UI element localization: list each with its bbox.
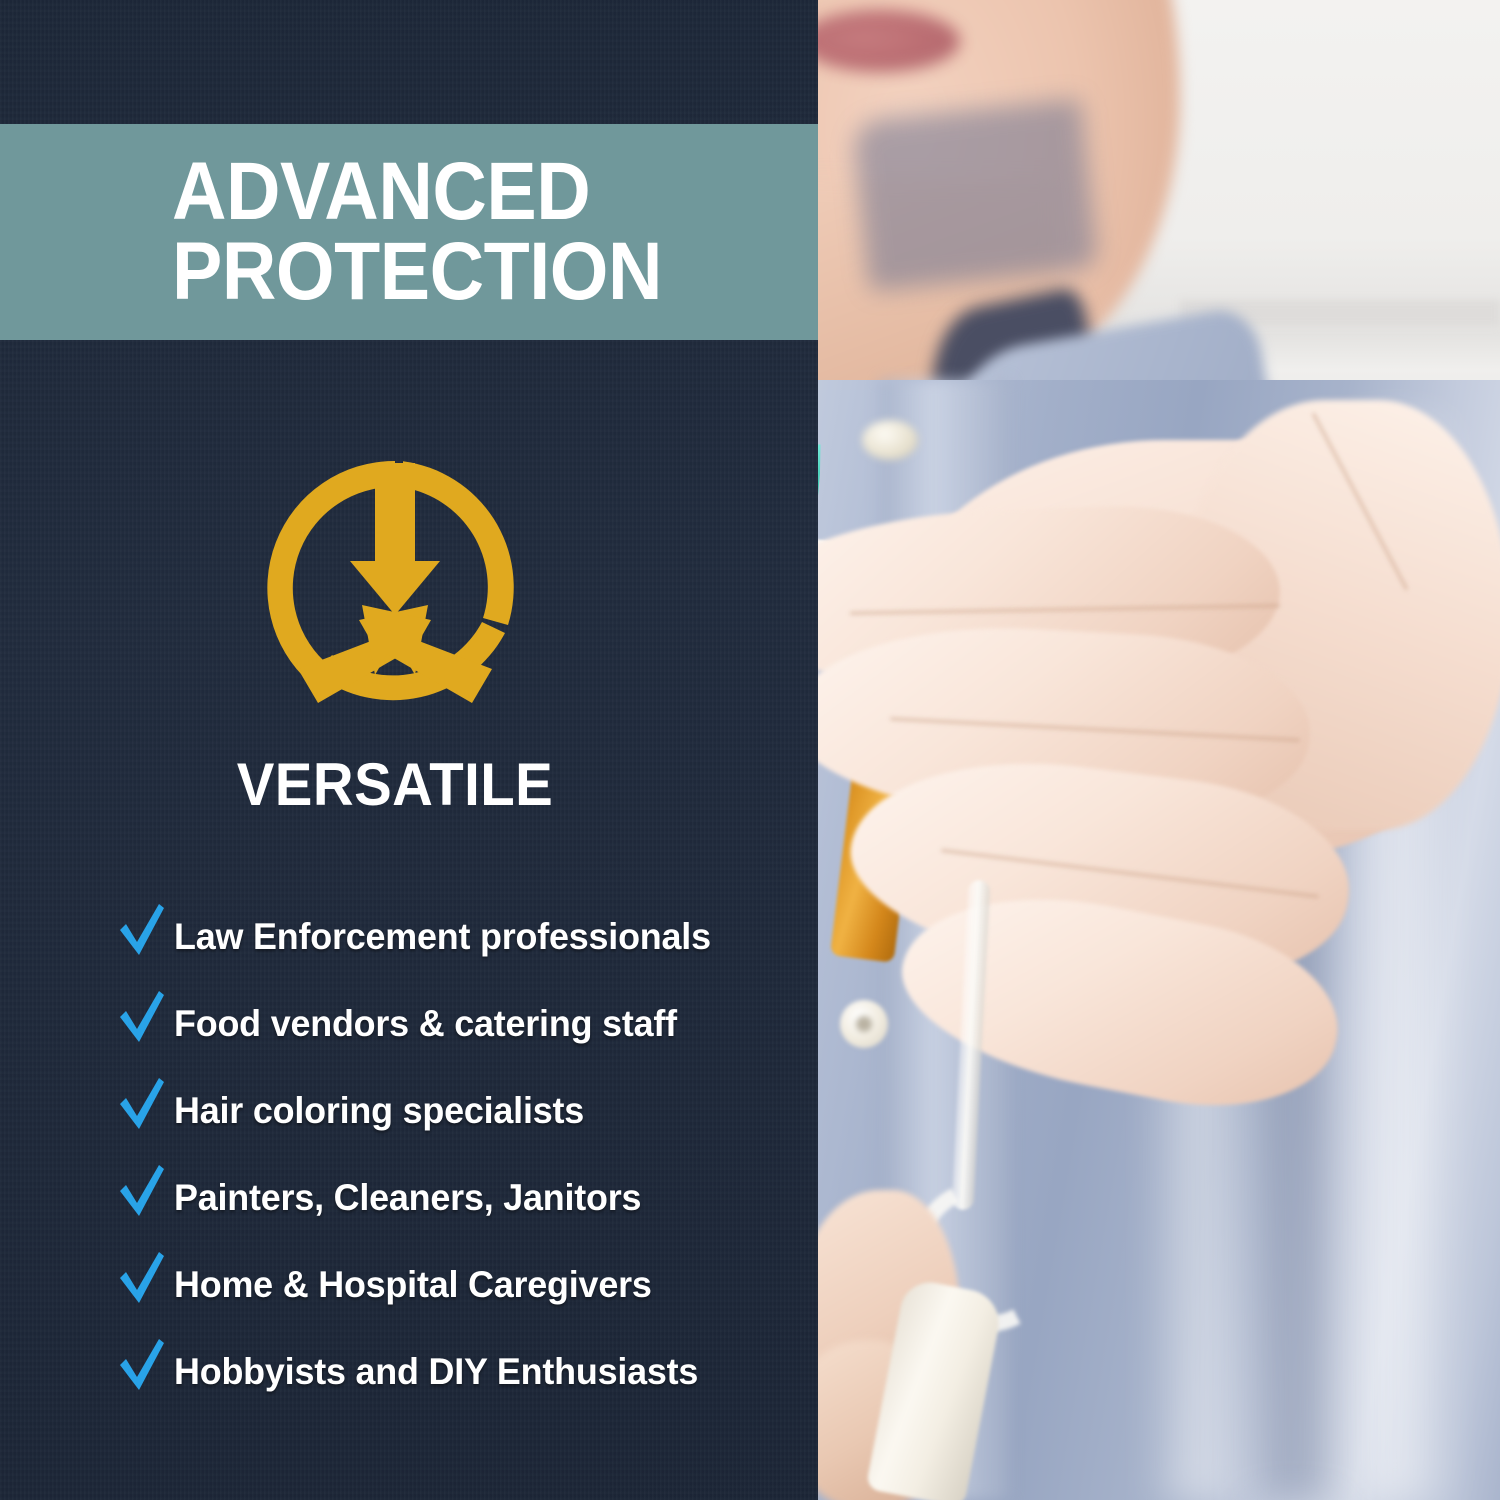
feature-title: VERSATILE xyxy=(24,750,767,819)
list-item: Painters, Cleaners, Janitors xyxy=(118,1154,778,1241)
circular-arrows-versatility-icon xyxy=(262,455,528,721)
list-item-label: Food vendors & catering staff xyxy=(174,1003,677,1045)
list-item: Home & Hospital Caregivers xyxy=(118,1241,778,1328)
headline-banner: ADVANCED PROTECTION xyxy=(0,124,818,340)
blue-checkmark-icon xyxy=(118,902,166,960)
blue-checkmark-icon xyxy=(118,989,166,1047)
shirt-pocket xyxy=(852,98,1099,291)
lips xyxy=(800,10,960,72)
list-item-label: Law Enforcement professionals xyxy=(174,916,711,958)
product-infographic: ADVANCED PROTECTION VERSATILE xyxy=(0,0,1500,1500)
list-item-label: Hobbyists and DIY Enthusiasts xyxy=(174,1351,698,1393)
blue-checkmark-icon xyxy=(118,1076,166,1134)
blue-checkmark-icon xyxy=(118,1337,166,1395)
blue-checkmark-icon xyxy=(118,1163,166,1221)
blue-checkmark-icon xyxy=(118,1250,166,1308)
headline-line-2: PROTECTION xyxy=(172,232,766,312)
gloved-hand xyxy=(700,380,1500,1080)
benefits-list: Law Enforcement professionals Food vendo… xyxy=(118,893,778,1415)
list-item: Food vendors & catering staff xyxy=(118,980,778,1067)
list-item-label: Painters, Cleaners, Janitors xyxy=(174,1177,641,1219)
list-item-label: Home & Hospital Caregivers xyxy=(174,1264,652,1306)
list-item: Hobbyists and DIY Enthusiasts xyxy=(118,1328,778,1415)
list-item: Hair coloring specialists xyxy=(118,1067,778,1154)
list-item-label: Hair coloring specialists xyxy=(174,1090,584,1132)
list-item: Law Enforcement professionals xyxy=(118,893,778,980)
headline-line-1: ADVANCED xyxy=(172,152,766,232)
